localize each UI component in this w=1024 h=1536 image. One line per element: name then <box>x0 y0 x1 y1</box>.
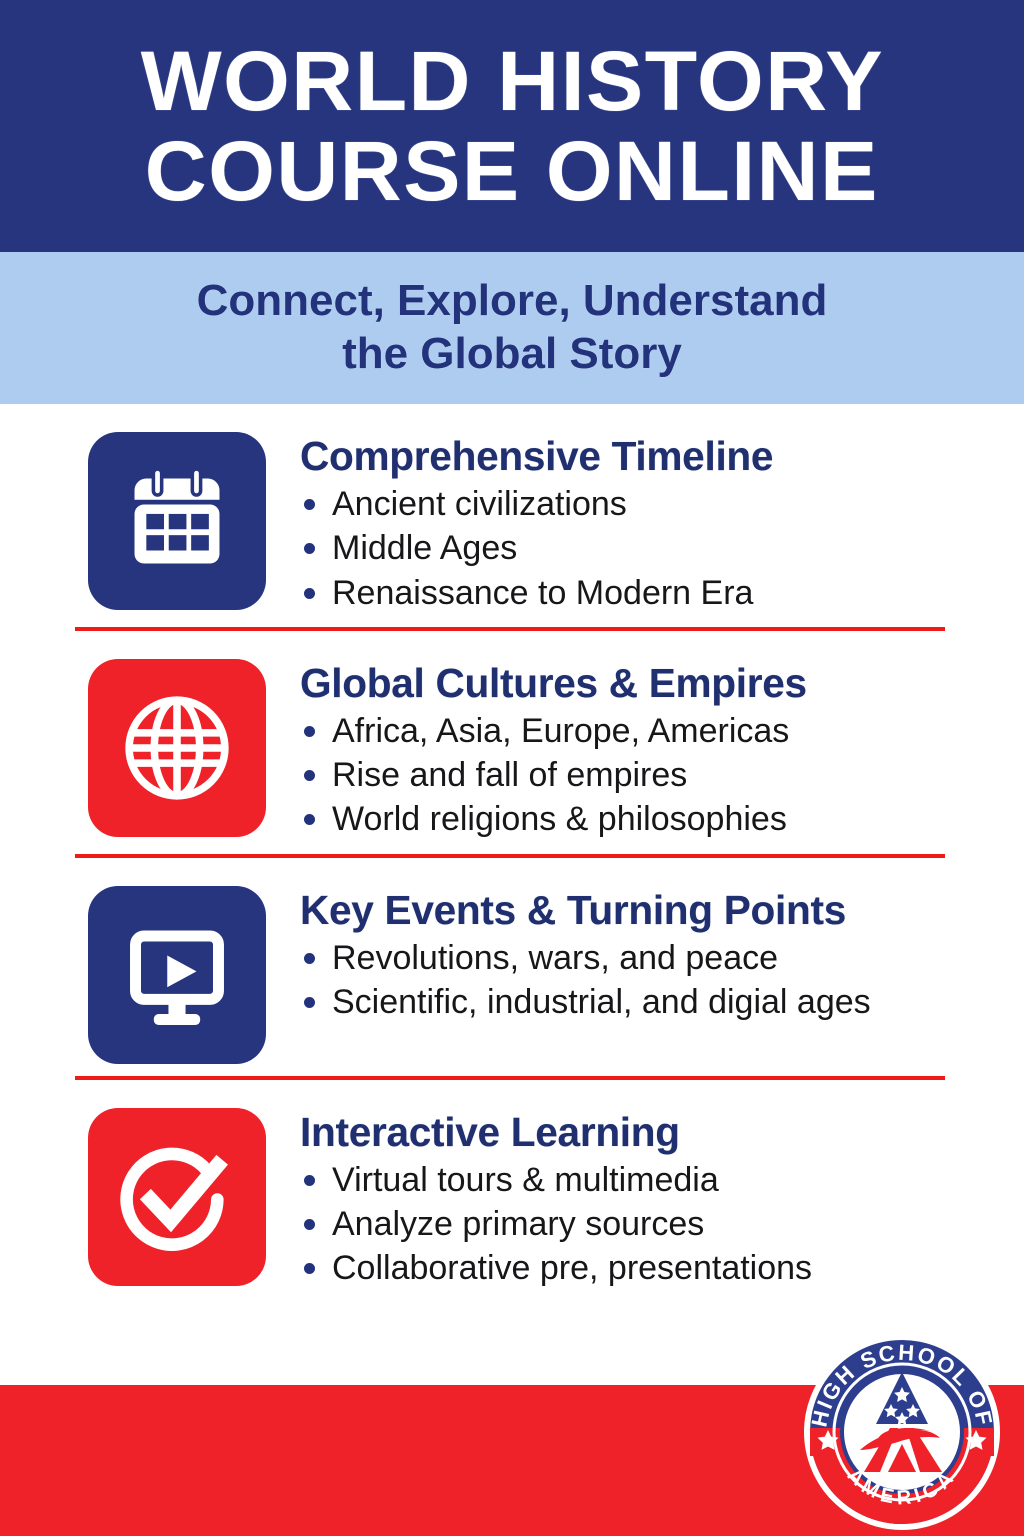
check-circle-icon <box>88 1108 266 1286</box>
feature-title: Comprehensive Timeline <box>300 434 977 478</box>
list-item: Africa, Asia, Europe, Americas <box>300 709 984 753</box>
list-item: Analyze primary sources <box>300 1202 984 1246</box>
list-item: Revolutions, wars, and peace <box>300 936 984 980</box>
list-item: World religions & philosophies <box>300 797 984 841</box>
subtitle-banner: Connect, Explore, Understand the Global … <box>0 252 1024 404</box>
monitor-play-icon <box>88 886 266 1064</box>
globe-icon <box>88 659 266 837</box>
calendar-icon <box>88 432 266 610</box>
feature-body: Interactive Learning Virtual tours & mul… <box>266 1108 984 1291</box>
feature-title: Global Cultures & Empires <box>300 661 977 705</box>
feature-body: Comprehensive Timeline Ancient civilizat… <box>266 432 984 615</box>
subtitle-line1: Connect, Explore, Understand <box>197 275 828 328</box>
page-title-line1: WORLD HISTORY <box>140 40 883 122</box>
list-item: Ancient civilizations <box>300 482 984 526</box>
feature-list: Comprehensive Timeline Ancient civilizat… <box>0 404 1024 1290</box>
feature-bullets: Africa, Asia, Europe, Americas Rise and … <box>300 709 984 842</box>
list-item: Rise and fall of empires <box>300 753 984 797</box>
list-item: Middle Ages <box>300 526 984 570</box>
feature-item-interactive: Interactive Learning Virtual tours & mul… <box>0 1080 1024 1291</box>
feature-item-key-events: Key Events & Turning Points Revolutions,… <box>0 858 1024 1064</box>
poster-root: WORLD HISTORY COURSE ONLINE Connect, Exp… <box>0 0 1024 1536</box>
list-item: Renaissance to Modern Era <box>300 571 984 615</box>
feature-bullets: Virtual tours & multimedia Analyze prima… <box>300 1158 984 1291</box>
list-item: Scientific, industrial, and digial ages <box>300 980 984 1024</box>
feature-body: Global Cultures & Empires Africa, Asia, … <box>266 659 984 842</box>
subtitle-line2: the Global Story <box>342 328 682 381</box>
feature-title: Key Events & Turning Points <box>300 888 977 932</box>
feature-body: Key Events & Turning Points Revolutions,… <box>266 886 984 1025</box>
feature-item-cultures: Global Cultures & Empires Africa, Asia, … <box>0 631 1024 842</box>
feature-bullets: Revolutions, wars, and peace Scientific,… <box>300 936 984 1024</box>
feature-title: Interactive Learning <box>300 1110 977 1154</box>
feature-bullets: Ancient civilizations Middle Ages Renais… <box>300 482 984 615</box>
list-item: Virtual tours & multimedia <box>300 1158 984 1202</box>
page-title-line2: COURSE ONLINE <box>145 130 879 212</box>
high-school-of-america-seal: HIGH SCHOOL OF AMERICA <box>802 1332 1002 1532</box>
list-item: Collaborative pre, presentations <box>300 1246 984 1290</box>
header-banner: WORLD HISTORY COURSE ONLINE <box>0 0 1024 252</box>
feature-item-timeline: Comprehensive Timeline Ancient civilizat… <box>0 404 1024 615</box>
